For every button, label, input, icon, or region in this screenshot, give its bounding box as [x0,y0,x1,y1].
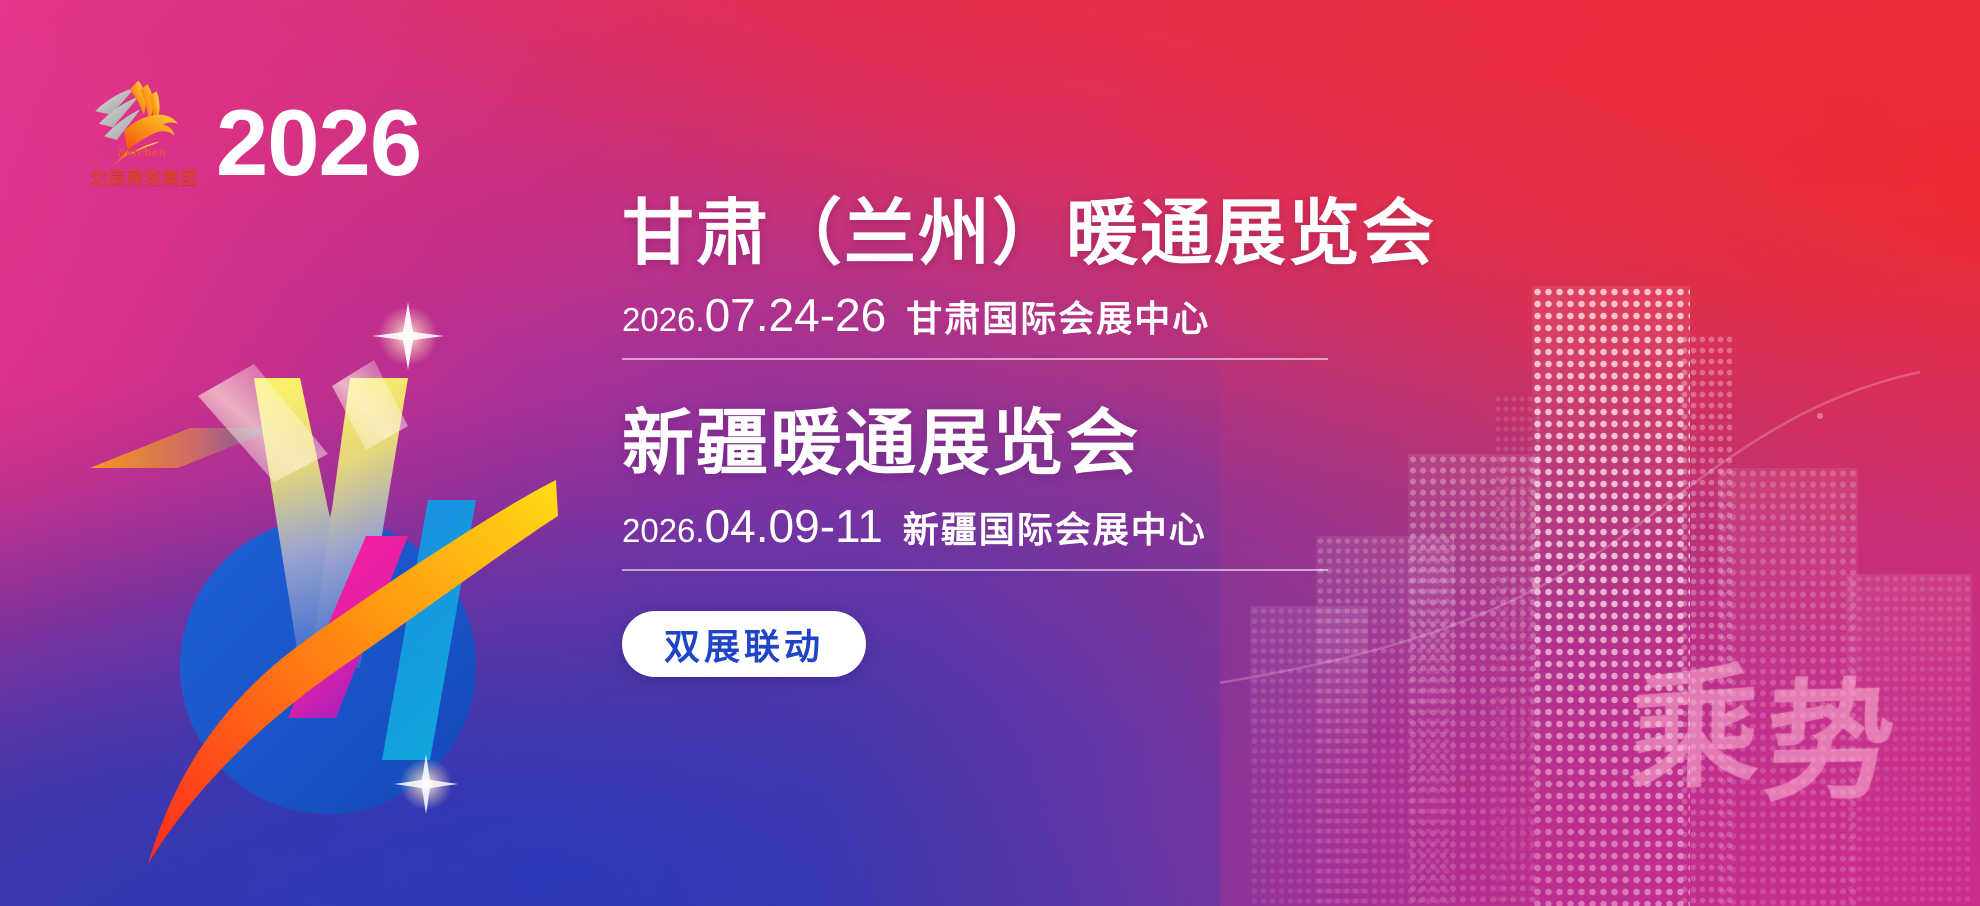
exhibition-banner: 乘势 [0,0,1980,906]
phoenix-logo-icon [88,68,196,176]
event-year-1: 2026. [622,301,705,339]
logo-company-name: 北辰展览集团 [90,164,194,189]
dual-expo-badge[interactable]: 双展联动 [622,611,866,677]
logo-pinyin: Beichen [90,148,194,159]
event-meta-2: 2026. 04.09-11 新疆国际会展中心 [622,499,1328,571]
event-dates-1: 07.24-26 [705,288,887,342]
event-venue-2: 新疆国际会展中心 [903,501,1207,553]
event-title-2: 新疆暖通展览会 [622,406,1382,482]
event-meta-1: 2026. 07.24-26 甘肃国际会展中心 [622,288,1328,360]
year-label: 2026 [216,96,421,190]
event-venue-1: 甘肃国际会展中心 [906,290,1210,342]
abstract-n-mark [78,268,558,888]
event-title-1: 甘肃（兰州）暖通展览会 [622,196,1382,272]
event-year-2: 2026. [622,512,705,550]
brand-logo-block: Beichen 北辰展览集团 2026 [88,68,428,196]
event-text-column: 甘肃（兰州）暖通展览会 2026. 07.24-26 甘肃国际会展中心 新疆暖通… [622,196,1382,677]
event-dates-2: 04.09-11 [705,499,883,553]
